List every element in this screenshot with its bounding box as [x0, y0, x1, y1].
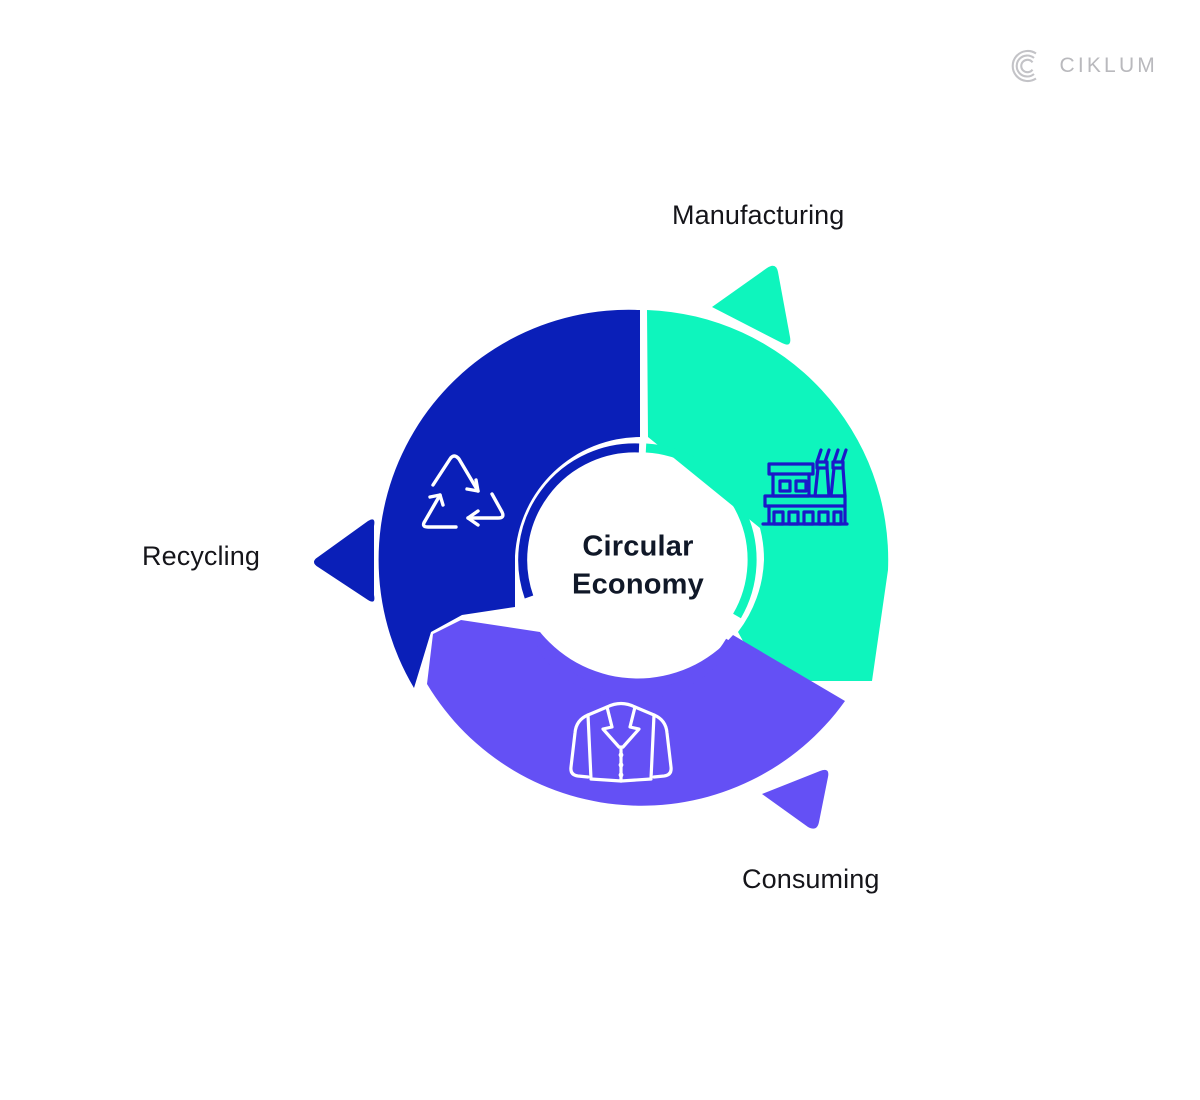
label-manufacturing: Manufacturing — [672, 200, 844, 231]
segment-manufacturing[interactable] — [646, 266, 888, 681]
recycling-arrowhead — [314, 519, 374, 601]
consuming-arrowhead — [762, 770, 828, 829]
label-recycling: Recycling — [142, 541, 260, 572]
circular-economy-diagram: Circular Economy Manufacturing Consuming… — [0, 0, 1200, 1100]
label-consuming: Consuming — [742, 864, 879, 895]
